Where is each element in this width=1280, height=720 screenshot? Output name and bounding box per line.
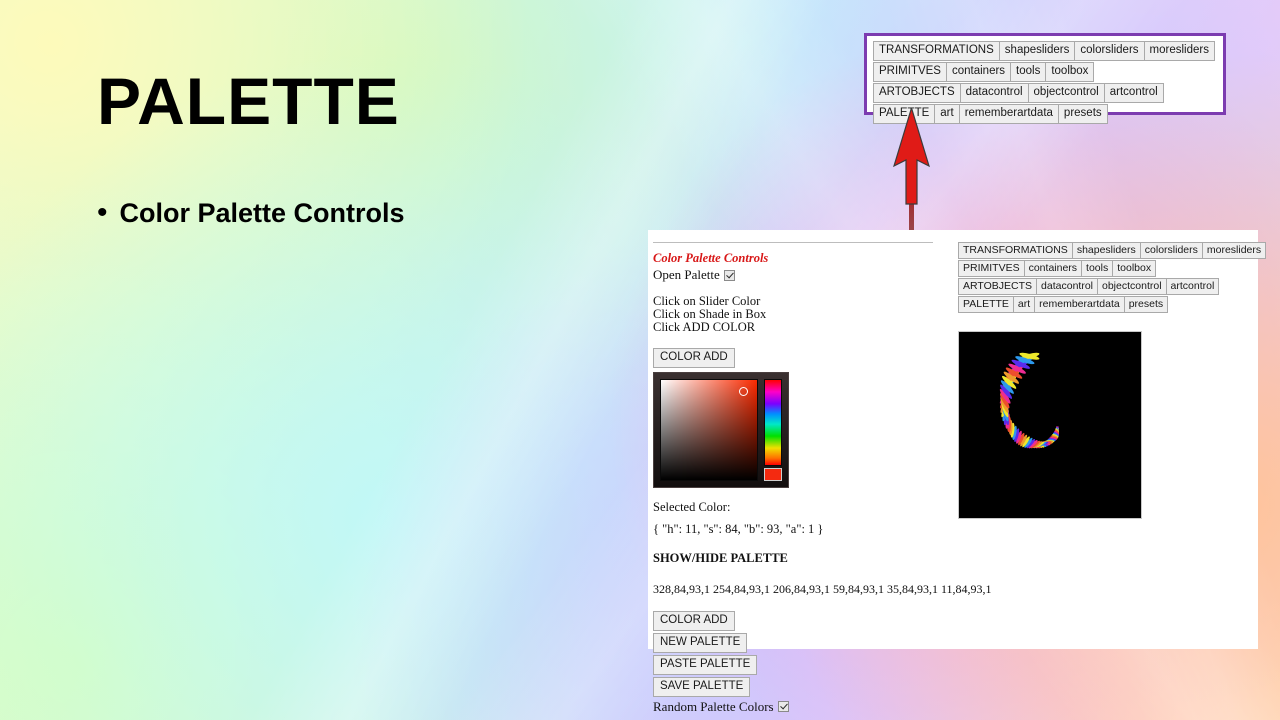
app-menu-item-objectcontrol[interactable]: objectcontrol xyxy=(1097,278,1167,295)
palette-color-values: 328,84,93,1 254,84,93,1 206,84,93,1 59,8… xyxy=(653,582,983,597)
callout-menu-item-art[interactable]: art xyxy=(934,104,959,124)
app-menu-item-containers[interactable]: containers xyxy=(1024,260,1082,277)
hue-slider[interactable] xyxy=(764,379,782,466)
callout-menu-item-artobjects[interactable]: ARTOBJECTS xyxy=(873,83,961,103)
palette-action-buttons: COLOR ADDNEW PALETTEPASTE PALETTESAVE PA… xyxy=(653,611,983,697)
callout-menu-item-palette[interactable]: PALETTE xyxy=(873,104,935,124)
open-palette-label: Open Palette xyxy=(653,267,720,283)
app-menu-item-moresliders[interactable]: moresliders xyxy=(1202,242,1266,259)
callout-menu-row: PALETTEartrememberartdatapresets xyxy=(873,104,1217,124)
app-menu-item-toolbox[interactable]: toolbox xyxy=(1112,260,1156,277)
paste-palette-button[interactable]: PASTE PALETTE xyxy=(653,655,757,675)
app-screenshot-panel: Color Palette Controls Open Palette Clic… xyxy=(648,230,1258,649)
random-palette-row[interactable]: Random Palette Colors xyxy=(653,699,983,715)
callout-menu-item-transformations[interactable]: TRANSFORMATIONS xyxy=(873,41,1000,61)
app-menu-item-artobjects[interactable]: ARTOBJECTS xyxy=(958,278,1037,295)
app-menu-item-colorsliders[interactable]: colorsliders xyxy=(1140,242,1203,259)
callout-menu-row: TRANSFORMATIONSshapesliderscolorslidersm… xyxy=(873,41,1217,61)
app-menu-item-palette[interactable]: PALETTE xyxy=(958,296,1014,313)
app-menu-item-artcontrol[interactable]: artcontrol xyxy=(1166,278,1220,295)
palette-controls-column: Color Palette Controls Open Palette Clic… xyxy=(653,236,983,715)
saturation-brightness-box[interactable] xyxy=(660,379,758,481)
app-menu-item-art[interactable]: art xyxy=(1013,296,1035,313)
color-picker-widget[interactable] xyxy=(653,372,789,488)
selected-color-label: Selected Color: xyxy=(653,500,983,515)
selected-color-value: { "h": 11, "s": 84, "b": 93, "a": 1 } xyxy=(653,522,983,537)
app-menu-and-art-column: TRANSFORMATIONSshapesliderscolorslidersm… xyxy=(958,242,1253,519)
page-title: PALETTE xyxy=(97,68,400,134)
callout-menu-item-containers[interactable]: containers xyxy=(946,62,1011,82)
callout-menu-item-tools[interactable]: tools xyxy=(1010,62,1046,82)
callout-menu-grid: TRANSFORMATIONSshapesliderscolorslidersm… xyxy=(873,41,1217,125)
callout-menu-row: PRIMITVEScontainerstoolstoolbox xyxy=(873,62,1217,82)
save-palette-button[interactable]: SAVE PALETTE xyxy=(653,677,750,697)
spiral-artwork xyxy=(959,332,1141,518)
callout-menu-item-artcontrol[interactable]: artcontrol xyxy=(1104,83,1164,103)
random-palette-label: Random Palette Colors xyxy=(653,699,774,715)
callout-menu-item-shapesliders[interactable]: shapesliders xyxy=(999,41,1076,61)
callout-menu-item-colorsliders[interactable]: colorsliders xyxy=(1074,41,1144,61)
open-palette-row[interactable]: Open Palette xyxy=(653,267,983,283)
art-canvas[interactable] xyxy=(958,331,1142,519)
app-menu-item-rememberartdata[interactable]: rememberartdata xyxy=(1034,296,1125,313)
bullet-label: Color Palette Controls xyxy=(120,196,405,230)
selected-color-swatch xyxy=(764,468,782,481)
divider xyxy=(653,242,933,243)
app-menu-row: ARTOBJECTSdatacontrolobjectcontrolartcon… xyxy=(958,278,1253,295)
bullet-marker: • xyxy=(97,196,108,230)
app-menu-row: PALETTEartrememberartdatapresets xyxy=(958,296,1253,313)
callout-menu-item-presets[interactable]: presets xyxy=(1058,104,1108,124)
color-add-top-wrapper: COLOR ADD xyxy=(653,347,983,368)
slide-canvas: PALETTE • Color Palette Controls TRANSFO… xyxy=(0,0,1280,720)
callout-menu-item-primitves[interactable]: PRIMITVES xyxy=(873,62,947,82)
open-palette-checkbox[interactable] xyxy=(724,270,735,281)
color-add-button[interactable]: COLOR ADD xyxy=(653,611,735,631)
callout-menu-panel: TRANSFORMATIONSshapesliderscolorslidersm… xyxy=(864,33,1226,115)
app-menu-item-shapesliders[interactable]: shapesliders xyxy=(1072,242,1141,259)
app-menu-row: PRIMITVEScontainerstoolstoolbox xyxy=(958,260,1253,277)
new-palette-button[interactable]: NEW PALETTE xyxy=(653,633,747,653)
callout-menu-row: ARTOBJECTSdatacontrolobjectcontrolartcon… xyxy=(873,83,1217,103)
hue-column xyxy=(764,379,782,481)
app-menu-item-transformations[interactable]: TRANSFORMATIONS xyxy=(958,242,1073,259)
color-add-button-top[interactable]: COLOR ADD xyxy=(653,348,735,368)
callout-menu-item-rememberartdata[interactable]: rememberartdata xyxy=(959,104,1059,124)
show-hide-palette-label[interactable]: SHOW/HIDE PALETTE xyxy=(653,551,983,566)
app-menu-row: TRANSFORMATIONSshapesliderscolorslidersm… xyxy=(958,242,1253,259)
bullet-item: • Color Palette Controls xyxy=(97,196,405,230)
app-menu-item-presets[interactable]: presets xyxy=(1124,296,1168,313)
callout-menu-item-toolbox[interactable]: toolbox xyxy=(1045,62,1094,82)
callout-menu-item-moresliders[interactable]: moresliders xyxy=(1144,41,1215,61)
palette-controls-heading: Color Palette Controls xyxy=(653,251,983,266)
app-menu-item-tools[interactable]: tools xyxy=(1081,260,1113,277)
callout-menu-item-objectcontrol[interactable]: objectcontrol xyxy=(1028,83,1105,103)
app-menu-item-datacontrol[interactable]: datacontrol xyxy=(1036,278,1098,295)
app-menu-item-primitves[interactable]: PRIMITVES xyxy=(958,260,1025,277)
picker-cursor-icon[interactable] xyxy=(739,387,748,396)
app-menu-grid: TRANSFORMATIONSshapesliderscolorslidersm… xyxy=(958,242,1253,314)
callout-menu-item-datacontrol[interactable]: datacontrol xyxy=(960,83,1029,103)
instructions-list: Click on Slider ColorClick on Shade in B… xyxy=(653,295,983,335)
instruction-line-3: Click ADD COLOR xyxy=(653,321,983,334)
random-palette-checkbox[interactable] xyxy=(778,701,789,712)
